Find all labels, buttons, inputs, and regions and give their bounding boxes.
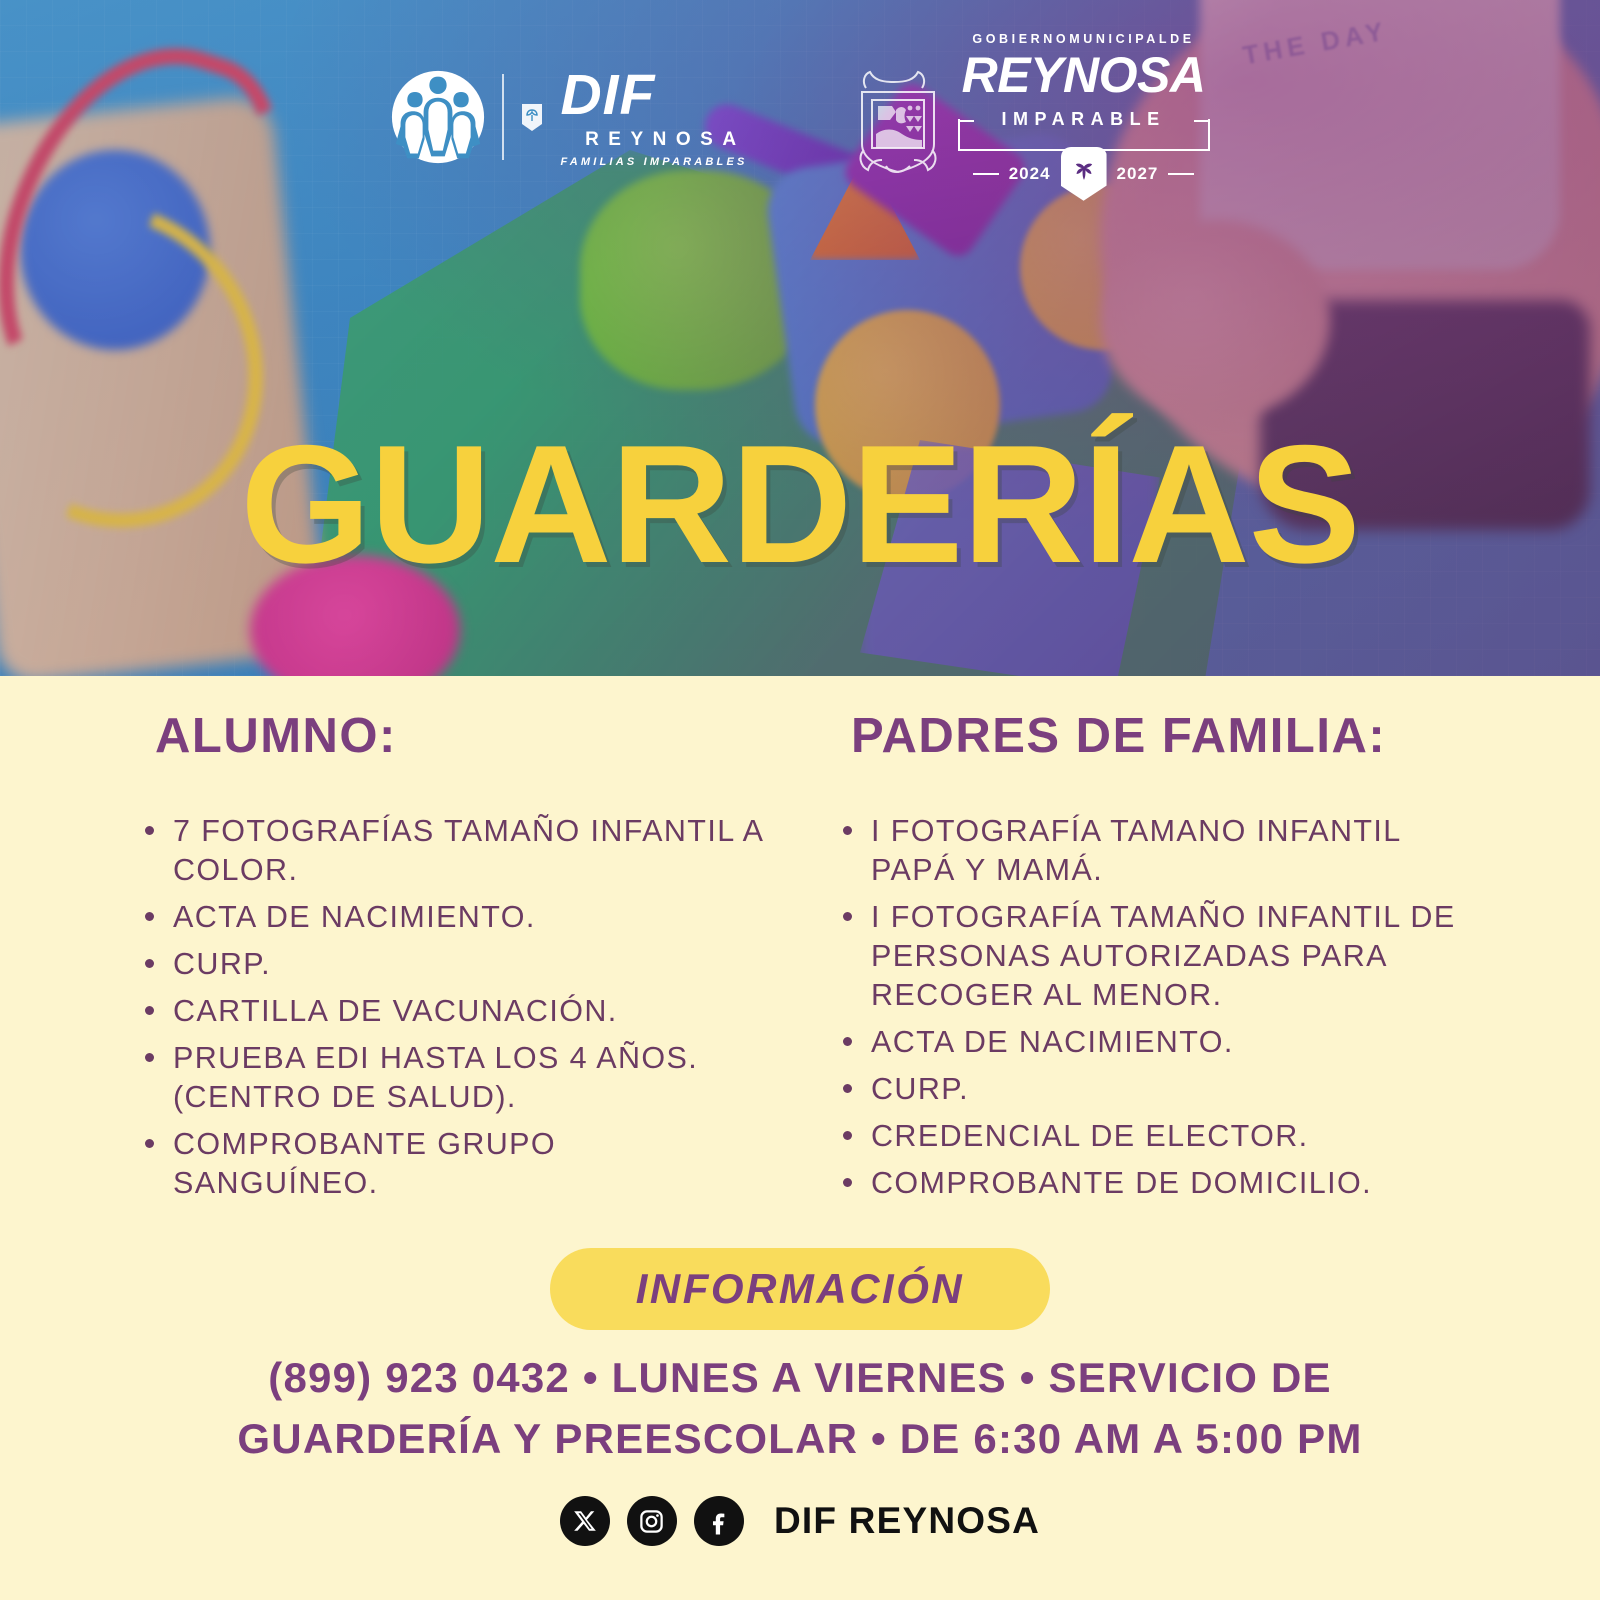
list-item: CURP. [829, 1070, 1469, 1109]
dif-wordmark: DIF REYNOSA FAMILIAS IMPARABLES [560, 67, 747, 168]
list-item: COMPROBANTE DE DOMICILIO. [829, 1164, 1469, 1203]
column-padres: PADRES DE FAMILIA: I FOTOGRAFÍA TAMANO I… [829, 708, 1469, 1211]
list-item: ACTA DE NACIMIENTO. [829, 1023, 1469, 1062]
dif-logo: DIF REYNOSA FAMILIAS IMPARABLES [390, 67, 747, 168]
year-dash-left [973, 173, 999, 175]
hero-banner: THE DAY [0, 0, 1600, 676]
list-item: I FOTOGRAFÍA TAMANO INFANTIL PAPÁ Y MAMÁ… [829, 812, 1469, 890]
contact-details: (899) 923 0432 • LUNES A VIERNES • SERVI… [0, 1348, 1600, 1470]
contact-line-1: (899) 923 0432 • LUNES A VIERNES • SERVI… [0, 1348, 1600, 1409]
reynosa-wordmark: GOBIERNOMUNICIPALDE REYNOSA IMPARABLE 20… [958, 33, 1210, 201]
list-item: ACTA DE NACIMIENTO. [131, 898, 771, 937]
list-item: I FOTOGRAFÍA TAMAÑO INFANTIL DE PERSONAS… [829, 898, 1469, 1015]
list-item: COMPROBANTE GRUPO SANGUÍNEO. [131, 1125, 771, 1203]
facebook-icon[interactable] [694, 1496, 744, 1546]
list-item: CURP. [131, 945, 771, 984]
padres-heading: PADRES DE FAMILIA: [829, 708, 1469, 764]
informacion-badge: INFORMACIÓN [550, 1248, 1050, 1330]
logo-divider [502, 74, 504, 160]
list-item: PRUEBA EDI HASTA LOS 4 AÑOS. (CENTRO DE … [131, 1039, 771, 1117]
page-title: GUARDERÍAS [0, 420, 1600, 588]
year-start: 2024 [1009, 165, 1051, 182]
list-item: CARTILLA DE VACUNACIÓN. [131, 992, 771, 1031]
reynosa-eyebrow: GOBIERNOMUNICIPALDE [972, 33, 1194, 46]
poster-root: THE DAY [0, 0, 1600, 1600]
list-item: CREDENCIAL DE ELECTOR. [829, 1117, 1469, 1156]
instagram-icon[interactable] [627, 1496, 677, 1546]
logo-bar: DIF REYNOSA FAMILIAS IMPARABLES [0, 52, 1600, 182]
information-pill-wrap: INFORMACIÓN [0, 1248, 1600, 1330]
social-handle: DIF REYNOSA [774, 1500, 1040, 1542]
reynosa-tagline: IMPARABLE [1001, 110, 1165, 130]
alumno-heading: ALUMNO: [131, 708, 771, 764]
reynosa-eagle-shield-icon [1061, 147, 1107, 201]
year-dash-right [1168, 173, 1194, 175]
reynosa-word: REYNOSA [962, 50, 1206, 100]
dif-subword: REYNOSA [585, 130, 747, 149]
dif-word: DIF [560, 67, 655, 124]
reynosa-coat-of-arms-icon [852, 58, 944, 176]
dif-leaf-badge-icon [520, 102, 544, 132]
reynosa-tagline-row: IMPARABLE [958, 103, 1210, 137]
social-footer: DIF REYNOSA [0, 1496, 1600, 1546]
year-end: 2027 [1117, 165, 1159, 182]
padres-requirements-list: I FOTOGRAFÍA TAMANO INFANTIL PAPÁ Y MAMÁ… [829, 812, 1469, 1203]
reynosa-government-logo: GOBIERNOMUNICIPALDE REYNOSA IMPARABLE 20… [852, 33, 1210, 201]
contact-line-2: GUARDERÍA Y PREESCOLAR • DE 6:30 AM A 5:… [0, 1409, 1600, 1470]
column-alumno: ALUMNO: 7 FOTOGRAFÍAS TAMAÑO INFANTIL A … [131, 708, 771, 1211]
dif-family-emblem-icon [390, 69, 486, 165]
requirements-section: ALUMNO: 7 FOTOGRAFÍAS TAMAÑO INFANTIL A … [0, 676, 1600, 1600]
requirements-columns: ALUMNO: 7 FOTOGRAFÍAS TAMAÑO INFANTIL A … [0, 708, 1600, 1211]
x-twitter-icon[interactable] [560, 1496, 610, 1546]
reynosa-term-years: 2024 2027 [973, 147, 1195, 201]
dif-tagline: FAMILIAS IMPARABLES [560, 157, 747, 168]
list-item: 7 FOTOGRAFÍAS TAMAÑO INFANTIL A COLOR. [131, 812, 771, 890]
alumno-requirements-list: 7 FOTOGRAFÍAS TAMAÑO INFANTIL A COLOR. A… [131, 812, 771, 1203]
